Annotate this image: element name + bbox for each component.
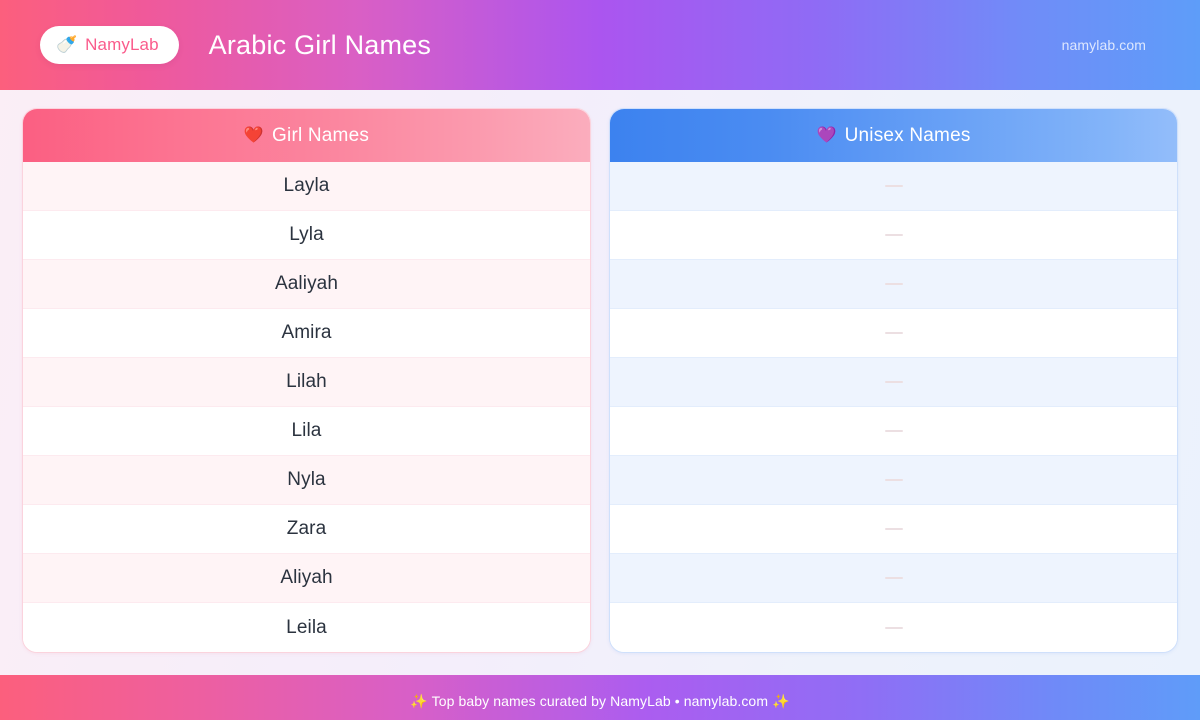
red-heart-icon: ❤️ <box>244 128 264 144</box>
empty-placeholder-icon <box>885 528 903 530</box>
list-item-empty <box>610 260 1177 309</box>
purple-heart-icon: 💜 <box>816 128 836 144</box>
list-item-empty <box>610 407 1177 456</box>
footer-text: ✨ Top baby names curated by NamyLab • na… <box>410 693 789 710</box>
main-content: ❤️ Girl Names Layla Lyla Aaliyah Amira L… <box>0 90 1200 653</box>
list-item[interactable]: Aliyah <box>23 554 590 603</box>
empty-placeholder-icon <box>885 332 903 334</box>
list-item[interactable]: Leila <box>23 603 590 652</box>
list-item-empty <box>610 603 1177 652</box>
list-item[interactable]: Lyla <box>23 211 590 260</box>
empty-placeholder-icon <box>885 479 903 481</box>
empty-placeholder-icon <box>885 430 903 432</box>
empty-placeholder-icon <box>885 627 903 629</box>
list-item[interactable]: Aaliyah <box>23 260 590 309</box>
logo-label: NamyLab <box>85 35 158 55</box>
girl-names-card-header: ❤️ Girl Names <box>23 109 590 162</box>
list-item-empty <box>610 358 1177 407</box>
list-item-empty <box>610 162 1177 211</box>
page-header: 🍼 NamyLab Arabic Girl Names namylab.com <box>0 0 1200 90</box>
list-item[interactable]: Lilah <box>23 358 590 407</box>
unisex-names-list <box>610 162 1177 652</box>
empty-placeholder-icon <box>885 283 903 285</box>
list-item[interactable]: Layla <box>23 162 590 211</box>
list-item[interactable]: Nyla <box>23 456 590 505</box>
unisex-names-card-header: 💜 Unisex Names <box>610 109 1177 162</box>
empty-placeholder-icon <box>885 577 903 579</box>
girl-names-card-title: Girl Names <box>272 125 369 147</box>
girl-names-card: ❤️ Girl Names Layla Lyla Aaliyah Amira L… <box>22 108 591 653</box>
page-title: Arabic Girl Names <box>209 30 431 61</box>
baby-bottle-icon: 🍼 <box>56 36 77 53</box>
logo-pill[interactable]: 🍼 NamyLab <box>40 26 179 64</box>
list-item-empty <box>610 505 1177 554</box>
list-item[interactable]: Lila <box>23 407 590 456</box>
unisex-names-card-title: Unisex Names <box>845 125 971 147</box>
unisex-names-card: 💜 Unisex Names <box>609 108 1178 653</box>
list-item-empty <box>610 554 1177 603</box>
empty-placeholder-icon <box>885 185 903 187</box>
empty-placeholder-icon <box>885 234 903 236</box>
list-item[interactable]: Amira <box>23 309 590 358</box>
list-item[interactable]: Zara <box>23 505 590 554</box>
list-item-empty <box>610 309 1177 358</box>
empty-placeholder-icon <box>885 381 903 383</box>
list-item-empty <box>610 456 1177 505</box>
page-footer: ✨ Top baby names curated by NamyLab • na… <box>0 675 1200 720</box>
site-url-label: namylab.com <box>1062 37 1172 53</box>
girl-names-list: Layla Lyla Aaliyah Amira Lilah Lila Nyla… <box>23 162 590 652</box>
list-item-empty <box>610 211 1177 260</box>
